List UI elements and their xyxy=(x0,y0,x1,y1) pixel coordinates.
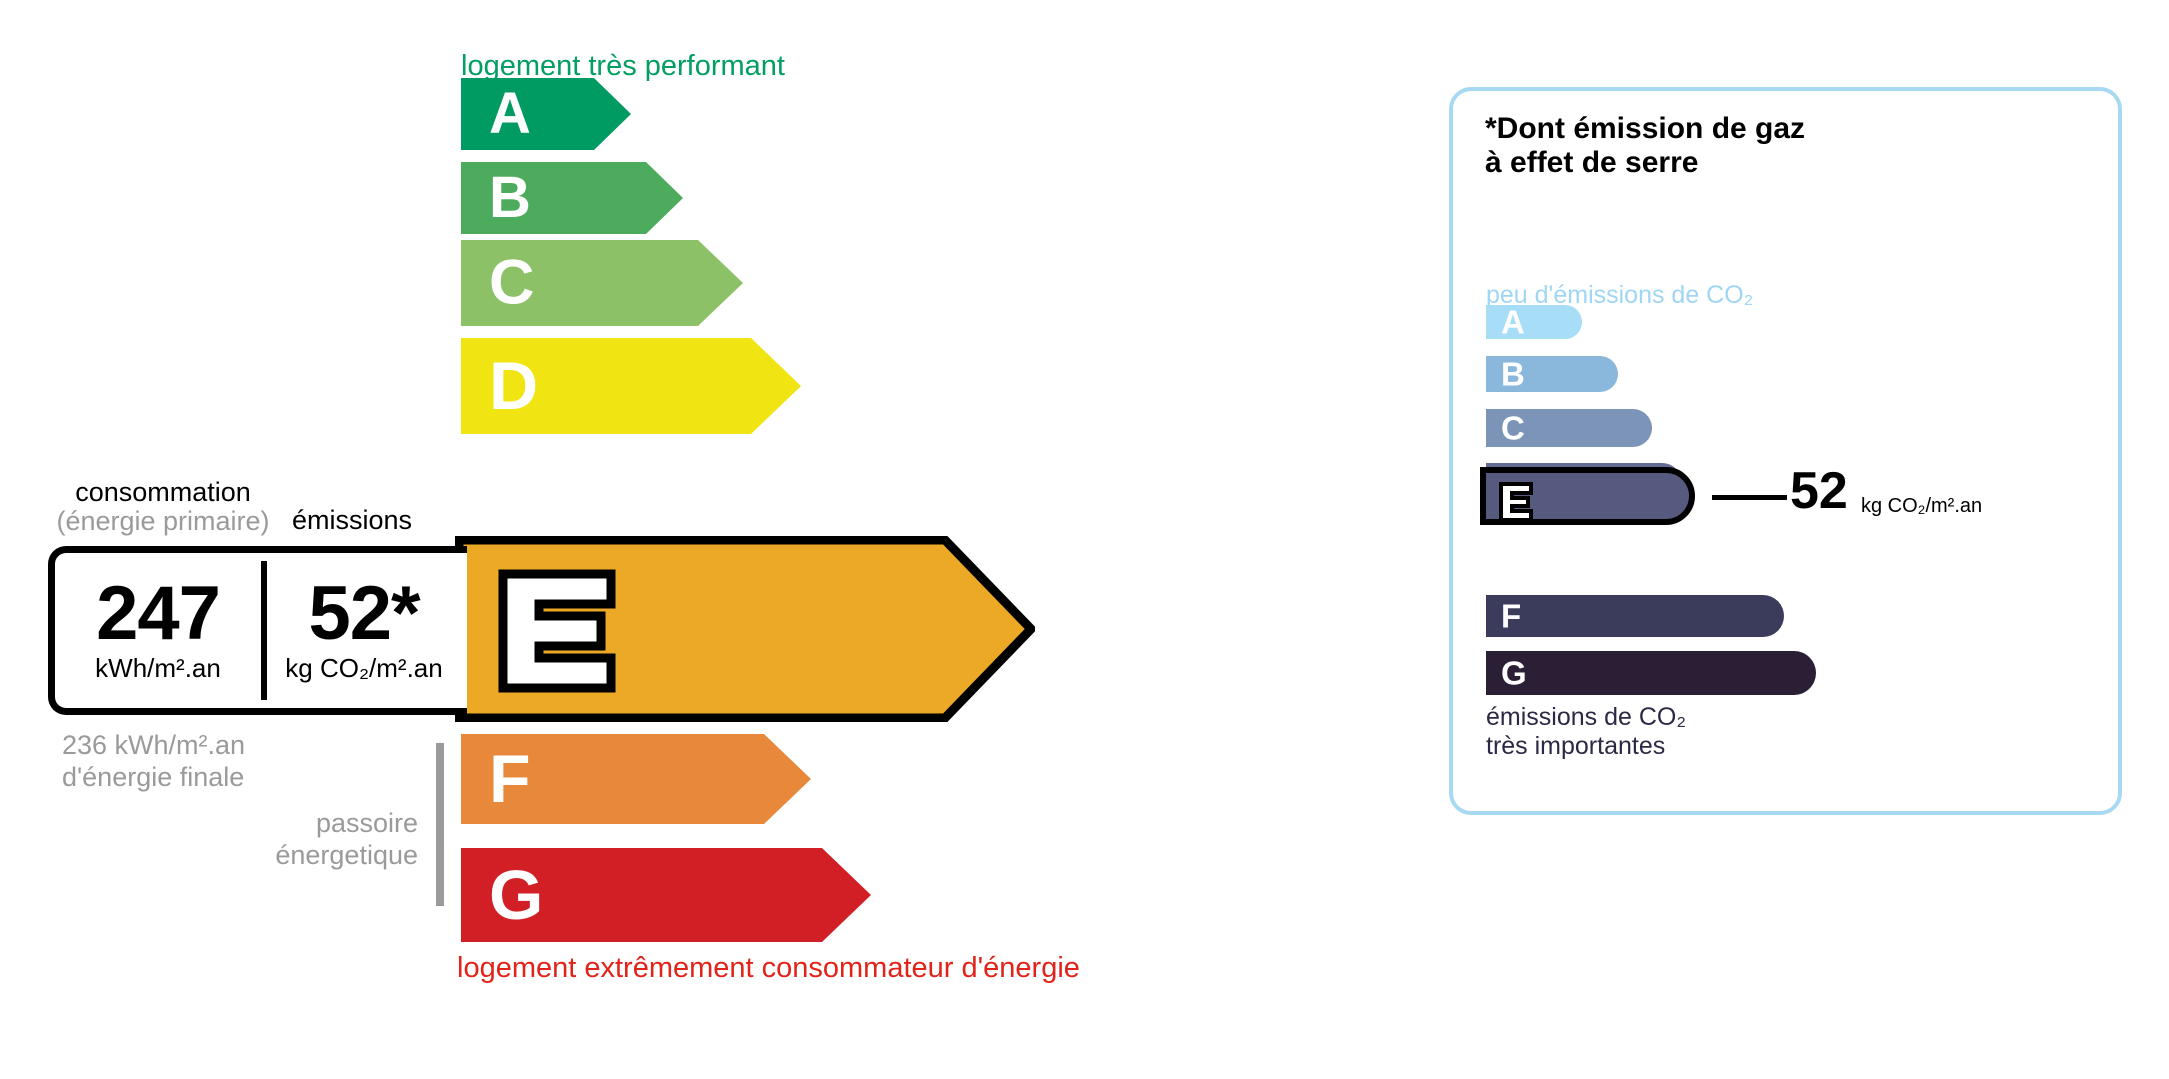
energy-bottom-caption: logement extrêmement consommateur d'éner… xyxy=(457,952,1080,985)
co2-bottom-caption: émissions de CO₂ très importantes xyxy=(1486,703,1686,761)
consumption-unit: kWh/m².an xyxy=(95,653,221,684)
co2-panel: *Dont émission de gaz à effet de serre p… xyxy=(1449,87,2122,815)
arrow-shape: C xyxy=(461,240,743,326)
arrow-head-icon xyxy=(646,162,683,234)
emission-header-label: émissions xyxy=(292,505,412,536)
co2-grade-letter-c: C xyxy=(1501,412,1525,445)
co2-callout-unit: kg CO₂/m².an xyxy=(1861,495,1982,518)
co2-callout-value: 52 xyxy=(1790,465,1848,517)
energy-grade-letter-f: F xyxy=(489,745,531,813)
emission-value-cell: 52* kg CO₂/m².an xyxy=(261,553,467,708)
co2-bottom-caption-line2: très importantes xyxy=(1486,732,1686,761)
energy-grade-arrow-f: F xyxy=(461,734,811,824)
energy-grade-letter-a: A xyxy=(489,85,531,143)
arrow-shape: D xyxy=(461,338,801,434)
co2-grade-bar-b: B xyxy=(1486,356,1618,392)
arrow-shape: F xyxy=(461,734,811,824)
co2-panel-title: *Dont émission de gaz à effet de serre xyxy=(1485,112,1805,179)
value-box: 247 kWh/m².an 52* kg CO₂/m².an xyxy=(48,546,467,715)
final-energy-note-line2: d'énergie finale xyxy=(62,762,245,794)
consumption-header: consommation (énergie primaire) xyxy=(48,478,278,536)
arrow-head-icon xyxy=(751,338,801,434)
final-energy-note: 236 kWh/m².an d'énergie finale xyxy=(62,730,245,794)
passoire-note: passoire énergetique xyxy=(188,808,418,872)
energy-grade-letter-d: D xyxy=(489,352,538,420)
energy-grade-arrow-d: D xyxy=(461,338,801,434)
energy-performance-diagram: logement très performant ABCDFG consomma… xyxy=(0,0,1380,1079)
energy-grade-letter-b: B xyxy=(489,169,531,227)
consumption-header-sublabel: (énergie primaire) xyxy=(48,507,278,536)
co2-grade-bar-c: C xyxy=(1486,409,1652,447)
co2-grade-letter-g: G xyxy=(1501,657,1527,690)
consumption-header-label: consommation xyxy=(75,477,251,507)
co2-selected-letter xyxy=(1498,481,1534,523)
consumption-value-cell: 247 kWh/m².an xyxy=(55,553,261,708)
co2-title-line2: à effet de serre xyxy=(1485,146,1805,180)
energy-selected-letter xyxy=(497,568,617,694)
passoire-note-line2: énergetique xyxy=(188,840,418,872)
final-energy-note-line1: 236 kWh/m².an xyxy=(62,730,245,762)
co2-grade-letter-b: B xyxy=(1501,358,1525,391)
consumption-value: 247 xyxy=(96,577,220,651)
co2-grade-letter-f: F xyxy=(1501,600,1521,633)
arrow-head-icon xyxy=(594,78,631,150)
co2-grade-bar-selected xyxy=(1480,467,1695,525)
arrow-shape: B xyxy=(461,162,683,234)
energy-grade-arrow-c: C xyxy=(461,240,743,326)
co2-grade-bar-f: F xyxy=(1486,595,1784,637)
co2-title-line1: *Dont émission de gaz xyxy=(1485,112,1805,146)
arrow-shape: A xyxy=(461,78,631,150)
arrow-head-icon xyxy=(764,734,811,824)
energy-grade-arrow-b: B xyxy=(461,162,683,234)
co2-bottom-caption-line1: émissions de CO₂ xyxy=(1486,703,1686,732)
arrow-shape: G xyxy=(461,848,871,942)
energy-grade-letter-c: C xyxy=(489,252,535,315)
energy-grade-arrow-a: A xyxy=(461,78,631,150)
co2-grade-bar-a: A xyxy=(1486,305,1582,339)
co2-grade-bar-g: G xyxy=(1486,651,1816,695)
co2-grade-letter-a: A xyxy=(1501,306,1525,339)
passoire-divider-bar xyxy=(436,743,444,906)
emission-unit: kg CO₂/m².an xyxy=(285,653,442,684)
arrow-head-icon xyxy=(822,848,871,942)
passoire-note-line1: passoire xyxy=(188,808,418,840)
energy-grade-letter-g: G xyxy=(489,860,543,930)
arrow-head-icon xyxy=(698,240,743,326)
emission-value: 52* xyxy=(308,577,419,651)
energy-grade-arrow-g: G xyxy=(461,848,871,942)
co2-callout-connector xyxy=(1712,495,1787,500)
